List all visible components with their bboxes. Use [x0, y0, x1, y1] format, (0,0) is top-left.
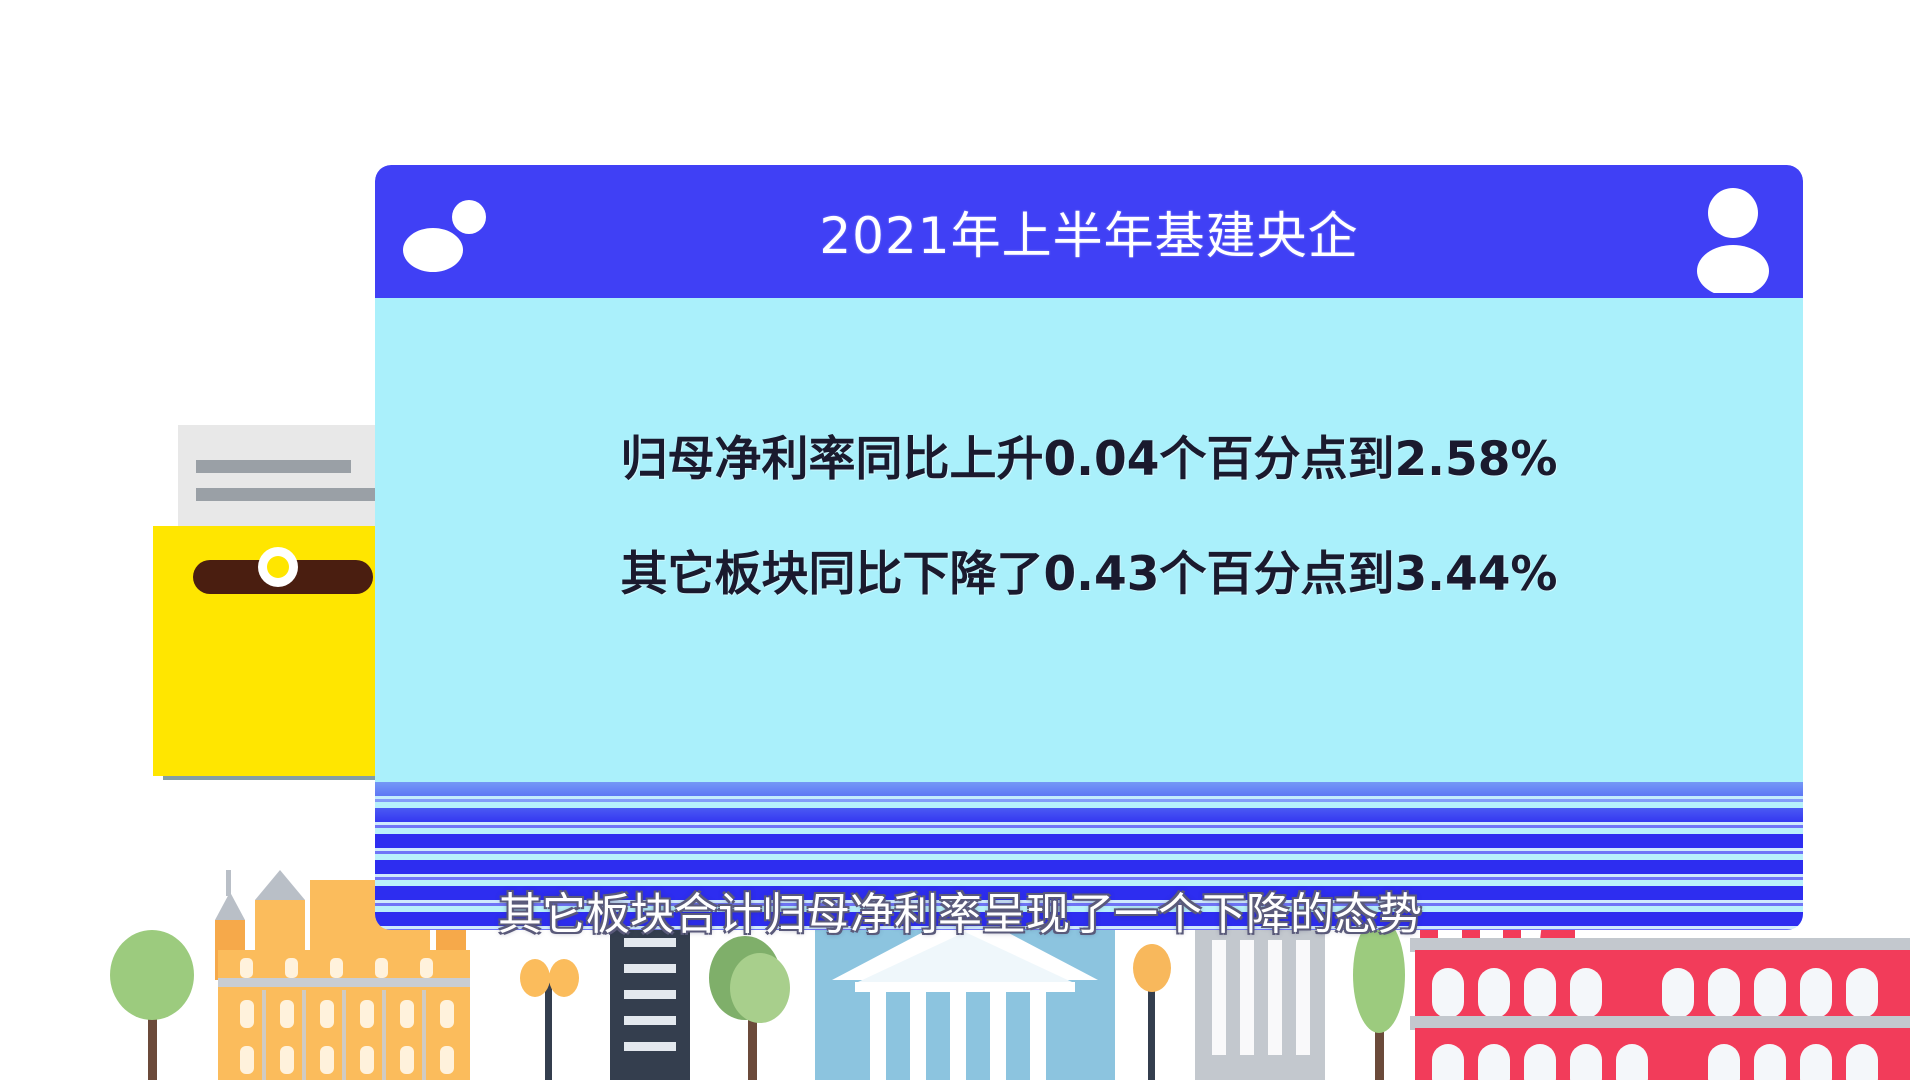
- browser-window: 2021年上半年基建央企 归母净利率同比上升0.04个百分点到2.58% 其它板…: [375, 165, 1803, 930]
- subtitle-caption: 其它板块合计归母净利率呈现了一个下降的态势: [0, 878, 1920, 942]
- dots-icon[interactable]: [397, 195, 507, 275]
- window-title: 2021年上半年基建央企: [819, 196, 1358, 268]
- user-avatar-icon[interactable]: [1693, 183, 1773, 293]
- window-body: 归母净利率同比上升0.04个百分点到2.58% 其它板块同比下降了0.43个百分…: [375, 298, 1803, 930]
- body-line-2: 其它板块同比下降了0.43个百分点到3.44%: [375, 535, 1803, 604]
- body-line-1: 归母净利率同比上升0.04个百分点到2.58%: [375, 420, 1803, 489]
- window-titlebar: 2021年上半年基建央企: [375, 165, 1803, 298]
- tree-icon: [709, 936, 790, 1080]
- tree-icon: [110, 930, 194, 1080]
- content-area: 归母净利率同比上升0.04个百分点到2.58% 其它板块同比下降了0.43个百分…: [375, 298, 1803, 650]
- street-lamp-icon: [520, 959, 579, 1080]
- street-lamp-icon: [1133, 944, 1171, 1080]
